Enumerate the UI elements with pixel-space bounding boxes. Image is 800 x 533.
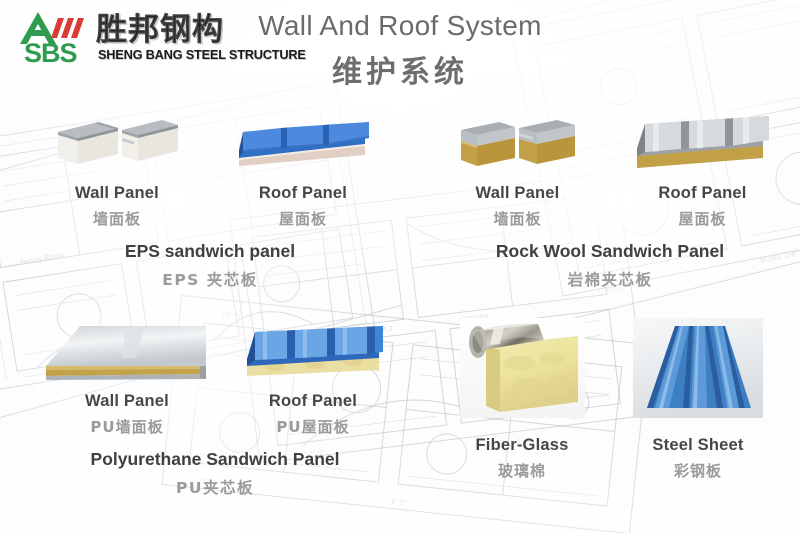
group-title-en: Polyurethane Sandwich Panel bbox=[35, 449, 395, 470]
group-title-en: EPS sandwich panel bbox=[35, 241, 385, 262]
product-item-eps-roof[interactable]: Roof Panel 屋面板 bbox=[223, 108, 383, 229]
product-item-rockwool-roof[interactable]: Roof Panel 屋面板 bbox=[620, 108, 785, 229]
pu-wall-panel-image bbox=[40, 318, 215, 386]
steel-sheet-image bbox=[633, 318, 763, 418]
product-item-eps-wall[interactable]: Wall Panel 墙面板 bbox=[37, 108, 197, 229]
page-title-en: Wall And Roof System bbox=[0, 10, 800, 42]
item-label-cn: 玻璃棉 bbox=[452, 460, 592, 481]
group-title-en: Rock Wool Sandwich Panel bbox=[435, 241, 785, 262]
product-item-pu-wall[interactable]: Wall Panel PU墙面板 bbox=[37, 318, 217, 437]
item-label-en: Roof Panel bbox=[223, 184, 383, 203]
item-label-en: Roof Panel bbox=[233, 392, 393, 411]
fiber-glass-image bbox=[460, 318, 585, 418]
item-label-cn: 墙面板 bbox=[435, 208, 600, 229]
eps-roof-panel-image bbox=[233, 108, 373, 178]
product-group-eps: Wall Panel 墙面板 bbox=[35, 108, 385, 290]
item-label-en: Wall Panel bbox=[37, 184, 197, 203]
product-item-fiber-glass[interactable]: Fiber-Glass 玻璃棉 bbox=[452, 318, 592, 481]
group-title-cn: PU夹芯板 bbox=[35, 476, 395, 498]
product-group-pu: Wall Panel PU墙面板 bbox=[35, 318, 395, 498]
rockwool-wall-panel-image bbox=[453, 108, 583, 178]
product-group-rockwool: Wall Panel 墙面板 bbox=[435, 108, 785, 290]
svg-text:6'-0": 6'-0" bbox=[391, 498, 408, 508]
product-item-steel-sheet[interactable]: Steel Sheet 彩钢板 bbox=[628, 318, 768, 481]
item-label-en: Wall Panel bbox=[37, 392, 217, 411]
product-item-rockwool-wall[interactable]: Wall Panel 墙面板 bbox=[435, 108, 600, 229]
item-label-cn: 屋面板 bbox=[620, 208, 785, 229]
group-title-cn: EPS 夹芯板 bbox=[35, 268, 385, 290]
item-label-cn: PU屋面板 bbox=[233, 416, 393, 437]
pu-roof-panel-image bbox=[241, 318, 386, 386]
item-label-cn: 墙面板 bbox=[37, 208, 197, 229]
item-label-en: Roof Panel bbox=[620, 184, 785, 203]
group-title-cn: 岩棉夹芯板 bbox=[435, 268, 785, 290]
item-label-en: Wall Panel bbox=[435, 184, 600, 203]
item-label-cn: 彩钢板 bbox=[628, 460, 768, 481]
item-label-cn: PU墙面板 bbox=[37, 416, 217, 437]
item-label-en: Fiber-Glass bbox=[452, 436, 592, 455]
product-group-materials: Fiber-Glass 玻璃棉 bbox=[430, 318, 790, 493]
page-title-cn: 维护系统 bbox=[0, 47, 800, 91]
item-label-cn: 屋面板 bbox=[223, 208, 383, 229]
item-label-en: Steel Sheet bbox=[628, 436, 768, 455]
slide-root: GARAGE 18'-6" Family Room bbox=[0, 0, 800, 533]
rockwool-roof-panel-image bbox=[633, 108, 773, 178]
product-item-pu-roof[interactable]: Roof Panel PU屋面板 bbox=[233, 318, 393, 437]
eps-wall-panel-image bbox=[52, 108, 182, 178]
